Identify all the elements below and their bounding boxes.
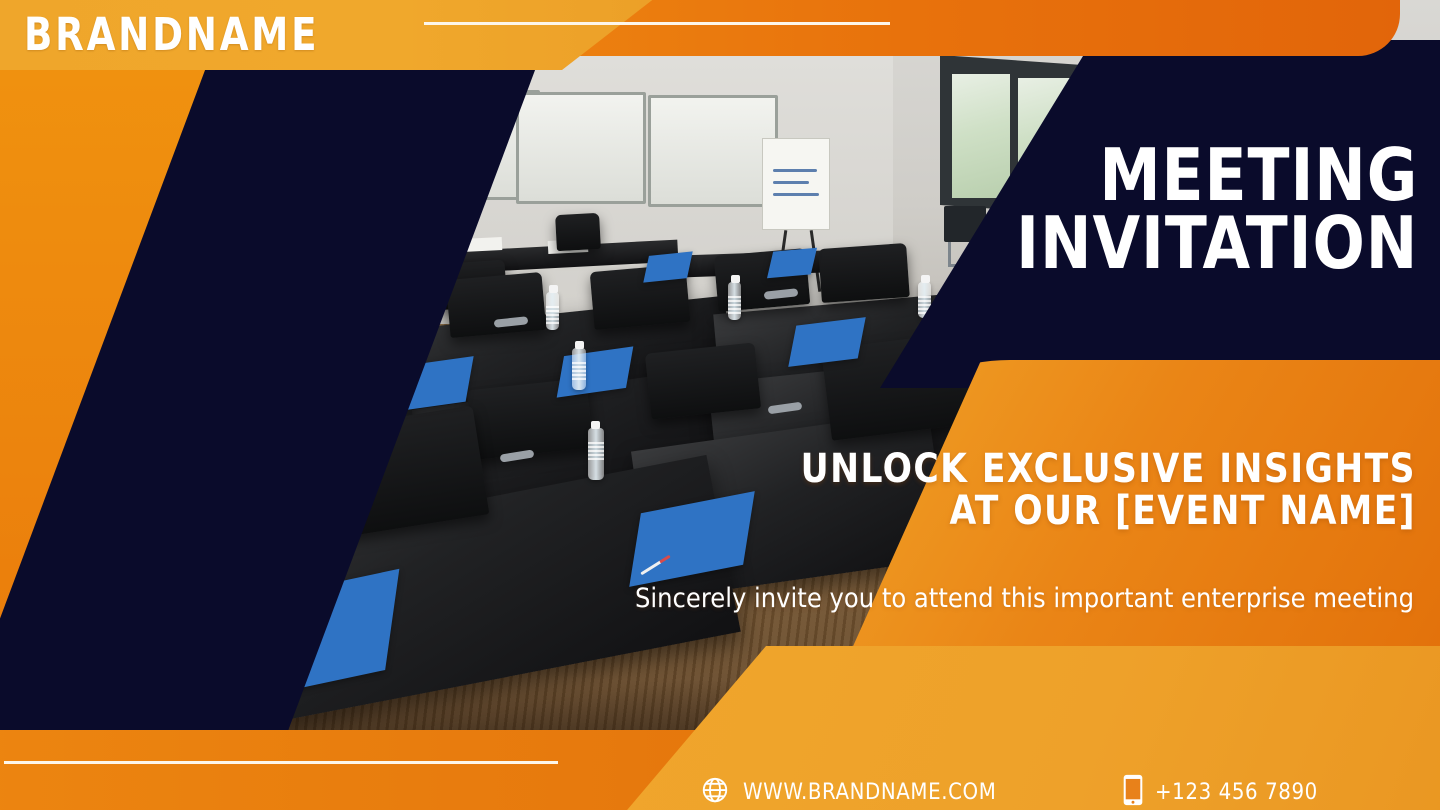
flipchart: [762, 138, 830, 230]
blue-folder: [767, 248, 817, 278]
globe-icon: [700, 775, 730, 810]
smartphone-icon: [1122, 774, 1144, 810]
water-bottle: [572, 348, 586, 390]
headline-line-2: AT OUR [EVENT NAME]: [801, 490, 1416, 532]
page-title: MEETING INVITATION: [995, 142, 1418, 277]
water-bottle: [546, 292, 559, 330]
top-accent-line: [424, 22, 890, 25]
phone-contact[interactable]: +123 456 7890: [1122, 774, 1318, 810]
title-line-1: MEETING: [1016, 142, 1418, 210]
chair: [818, 243, 910, 303]
blue-folder: [643, 251, 692, 282]
brand-logo-text: BRANDNAME: [24, 8, 319, 61]
headline: UNLOCK EXCLUSIVE INSIGHTS AT OUR [EVENT …: [775, 448, 1416, 533]
body-text: Sincerely invite you to attend this impo…: [635, 582, 1414, 617]
chair: [446, 272, 547, 338]
phone-label: +123 456 7890: [1155, 780, 1318, 805]
footer-accent-line: [4, 761, 558, 764]
website-contact[interactable]: WWW.BRANDNAME.COM: [700, 775, 996, 810]
chair: [555, 213, 601, 251]
chair: [645, 342, 761, 419]
whiteboard: [516, 92, 646, 204]
headline-line-1: UNLOCK EXCLUSIVE INSIGHTS: [801, 448, 1416, 490]
water-bottle: [588, 428, 604, 480]
title-line-2: INVITATION: [1016, 210, 1418, 278]
water-bottle: [728, 282, 741, 320]
whiteboard: [648, 95, 778, 207]
website-label: WWW.BRANDNAME.COM: [743, 780, 996, 805]
meeting-invitation-poster: BRANDNAME MEETING INVITATION UNLOCK EXCL…: [0, 0, 1440, 810]
